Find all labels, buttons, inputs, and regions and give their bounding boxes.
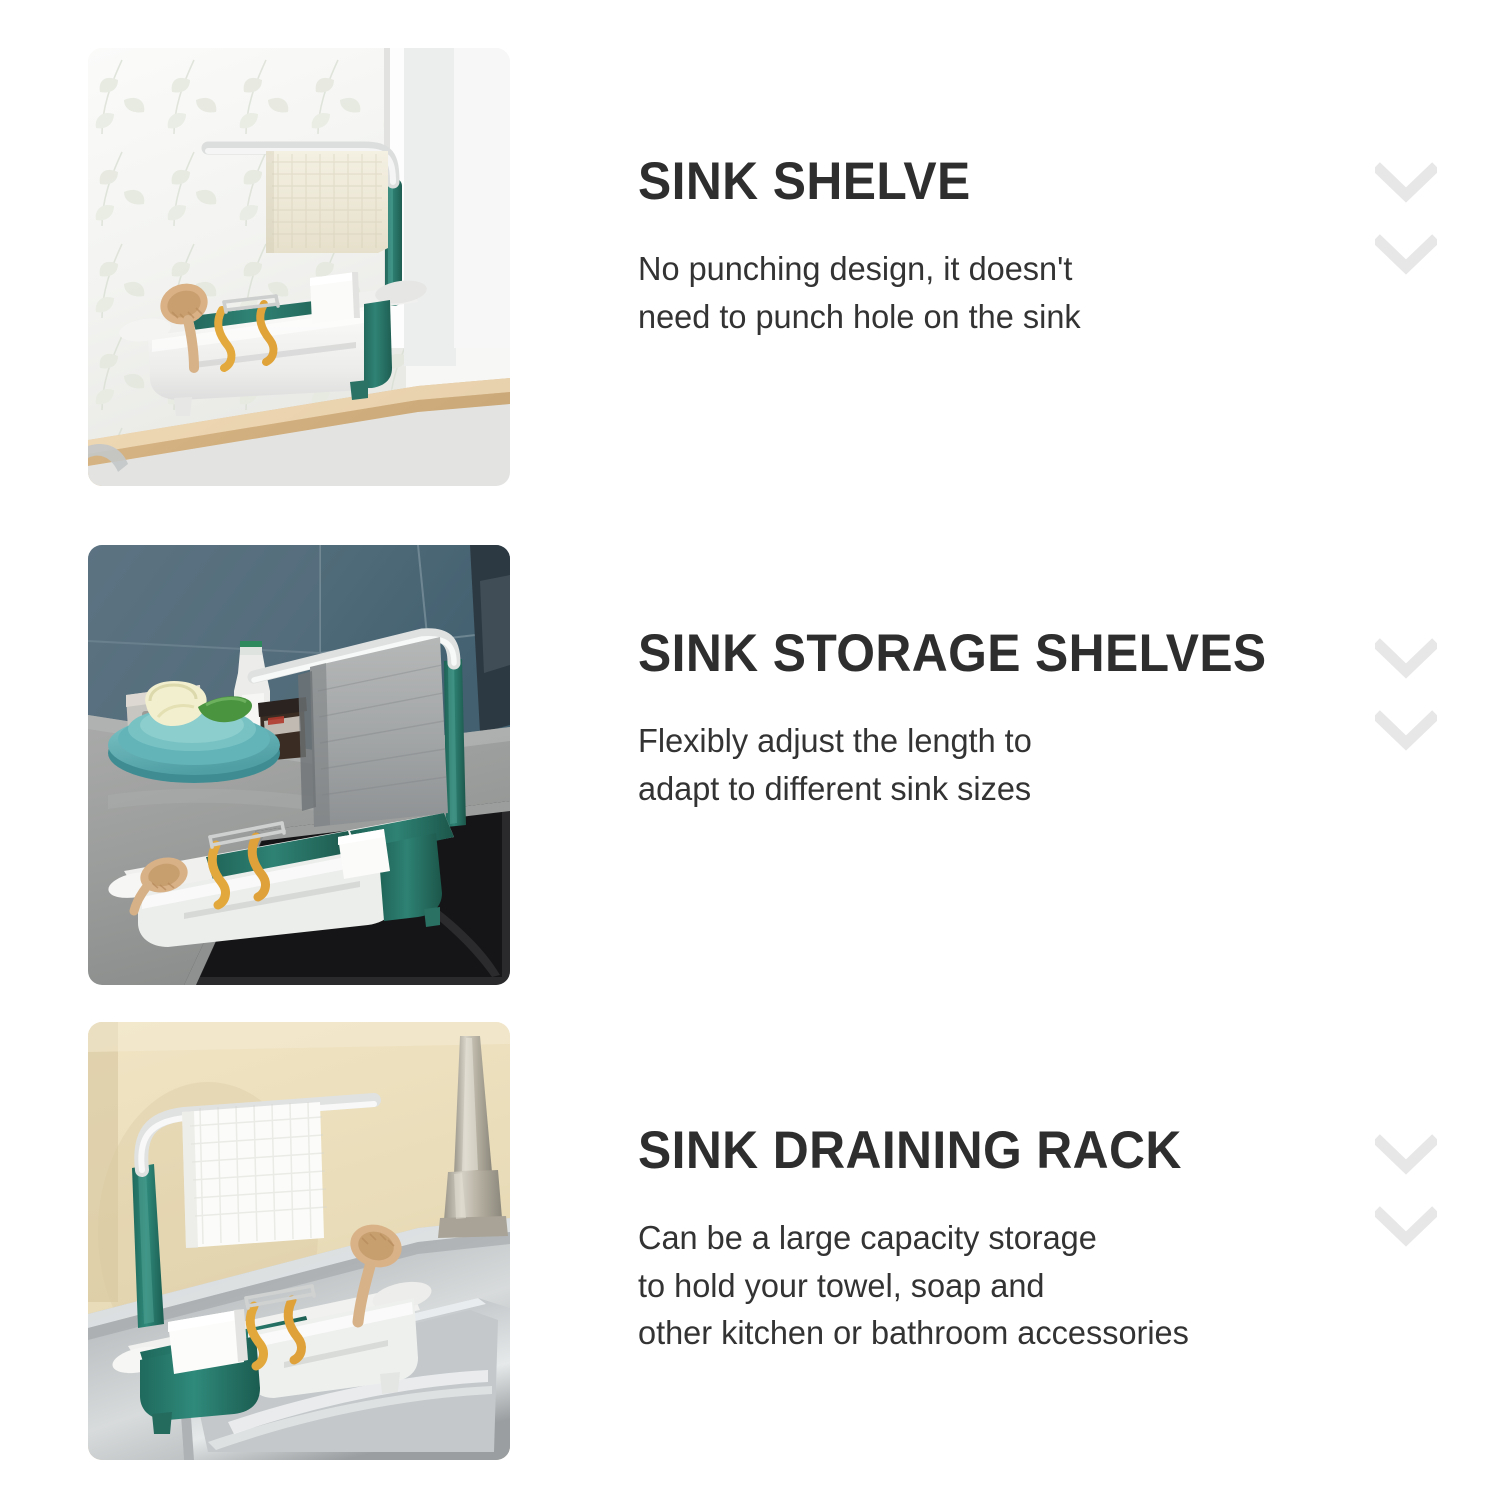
chevron-down-icon (1375, 1134, 1437, 1176)
feature-title: SINK DRAINING RACK (638, 1122, 1334, 1179)
chevron-down-icon (1375, 638, 1437, 680)
product-photo-sink-caddy-on-windowsill (88, 48, 510, 486)
product-photo-sink-caddy-on-grey-countertop (88, 545, 510, 985)
feature-description: No punching design, it doesn't need to p… (638, 246, 1356, 341)
chevron-stack (1358, 162, 1454, 276)
feature-description: Can be a large capacity storage to hold … (638, 1215, 1356, 1358)
description-line: other kitchen or bathroom accessories (638, 1310, 1356, 1358)
feature-title: SINK STORAGE SHELVES (638, 625, 1334, 682)
product-infographic: SINK SHELVE No punching design, it doesn… (0, 0, 1500, 1500)
description-line: adapt to different sink sizes (638, 766, 1356, 814)
feature-row-sink-shelve: SINK SHELVE No punching design, it doesn… (0, 48, 1500, 486)
chevron-down-icon (1375, 710, 1437, 752)
chevron-down-icon (1375, 1206, 1437, 1248)
description-line: to hold your towel, soap and (638, 1263, 1356, 1311)
feature-row-sink-storage-shelves: SINK STORAGE SHELVES Flexibly adjust the… (0, 545, 1500, 985)
description-line: need to punch hole on the sink (638, 294, 1356, 342)
product-photo-sink-caddy-on-stainless-steel-sink (88, 1022, 510, 1460)
feature-row-sink-draining-rack: SINK DRAINING RACK Can be a large capaci… (0, 1022, 1500, 1460)
feature-text-sink-storage-shelves: SINK STORAGE SHELVES Flexibly adjust the… (638, 625, 1378, 813)
feature-description: Flexibly adjust the length to adapt to d… (638, 718, 1356, 813)
description-line: Can be a large capacity storage (638, 1215, 1356, 1263)
description-line: No punching design, it doesn't (638, 246, 1356, 294)
feature-text-sink-draining-rack: SINK DRAINING RACK Can be a large capaci… (638, 1122, 1378, 1358)
feature-title: SINK SHELVE (638, 153, 1334, 210)
description-line: Flexibly adjust the length to (638, 718, 1356, 766)
feature-text-sink-shelve: SINK SHELVE No punching design, it doesn… (638, 153, 1378, 341)
chevron-stack (1358, 1134, 1454, 1248)
chevron-stack (1358, 638, 1454, 752)
chevron-down-icon (1375, 162, 1437, 204)
chevron-down-icon (1375, 234, 1437, 276)
